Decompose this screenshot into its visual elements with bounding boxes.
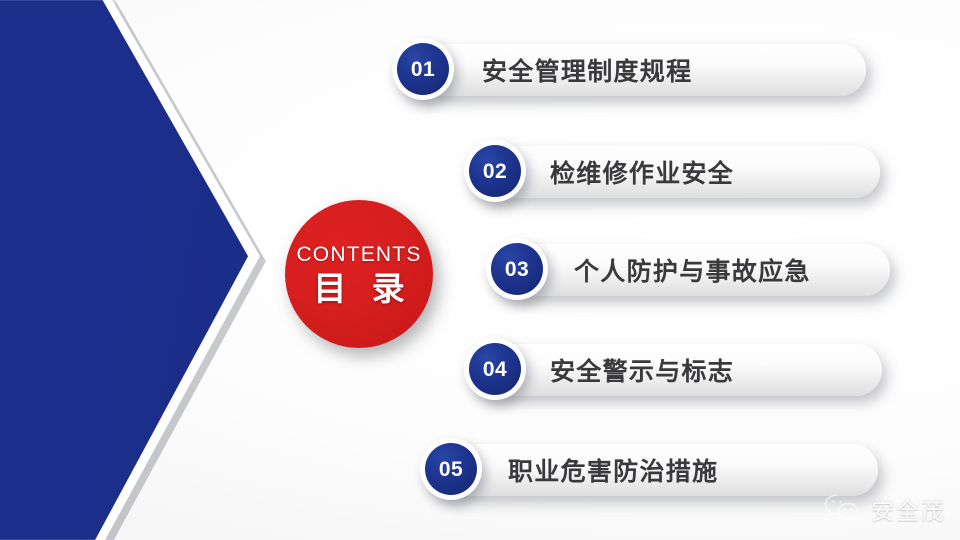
- navy-chevron-fill: [0, 0, 275, 540]
- toc-item-01-label: 安全管理制度规程: [482, 52, 692, 88]
- toc-item-04-number: 04: [483, 359, 507, 380]
- toc-item-05[interactable]: 05 职业危害防治措施: [426, 444, 878, 496]
- toc-item-05-label: 职业危害防治措施: [508, 452, 718, 488]
- watermark: 安全茂: [823, 492, 946, 526]
- toc-item-03[interactable]: 03 个人防护与事故应急: [492, 244, 890, 296]
- contents-chinese-label: 目 录: [305, 272, 412, 305]
- toc-item-01[interactable]: 01 安全管理制度规程: [398, 44, 866, 96]
- slide-canvas: CONTENTS 目 录 01 安全管理制度规程 02 检维修作业安全 03 个…: [0, 0, 960, 540]
- toc-item-03-badge: 03: [486, 238, 548, 300]
- toc-item-03-badge-circle: 03: [491, 243, 543, 295]
- toc-item-04[interactable]: 04 安全警示与标志: [470, 344, 882, 396]
- wechat-icon: [823, 492, 863, 526]
- toc-item-01-badge-circle: 01: [397, 43, 449, 95]
- toc-item-02-number: 02: [483, 161, 507, 182]
- contents-english-label: CONTENTS: [296, 244, 421, 265]
- toc-item-02-badge: 02: [464, 140, 526, 202]
- toc-item-03-label: 个人防护与事故应急: [574, 252, 811, 288]
- toc-item-05-badge: 05: [420, 438, 482, 500]
- toc-item-02-badge-circle: 02: [469, 145, 521, 197]
- toc-item-05-number: 05: [439, 459, 463, 480]
- toc-item-02-label: 检维修作业安全: [550, 154, 734, 190]
- toc-item-04-badge: 04: [464, 338, 526, 400]
- contents-circle: CONTENTS 目 录: [285, 200, 433, 348]
- navy-chevron-arrow: [0, 0, 275, 540]
- toc-item-05-badge-circle: 05: [425, 443, 477, 495]
- watermark-text: 安全茂: [871, 492, 946, 526]
- toc-item-01-number: 01: [411, 59, 435, 80]
- toc-item-04-label: 安全警示与标志: [550, 352, 734, 388]
- toc-item-02[interactable]: 02 检维修作业安全: [470, 146, 880, 198]
- toc-item-04-badge-circle: 04: [469, 343, 521, 395]
- toc-item-03-number: 03: [505, 259, 529, 280]
- toc-item-01-badge: 01: [392, 38, 454, 100]
